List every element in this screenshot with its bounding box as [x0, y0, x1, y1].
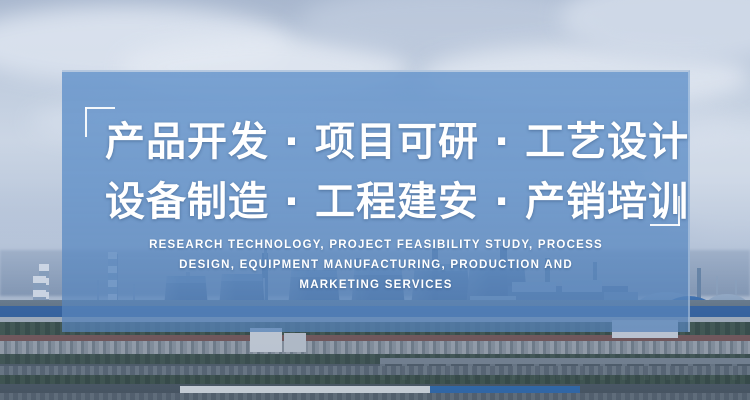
bracket-horizontal-stroke [85, 107, 115, 109]
subtitle: RESEARCH TECHNOLOGY, PROJECT FEASIBILITY… [120, 235, 632, 295]
subtitle-line-3: MARKETING SERVICES [120, 275, 632, 295]
elevated-roadway [380, 358, 750, 364]
rail-yard [0, 393, 750, 400]
subtitle-line-2: DESIGN, EQUIPMENT MANUFACTURING, PRODUCT… [120, 255, 632, 275]
subtitle-line-1: RESEARCH TECHNOLOGY, PROJECT FEASIBILITY… [120, 235, 632, 255]
silo-cluster [284, 333, 306, 352]
train-cars [430, 386, 580, 393]
vehicle-storage-lot [0, 341, 750, 354]
promo-banner: 产品开发 · 项目可研 · 工艺设计 设备制造 · 工程建安 · 产销培训 RE… [0, 0, 750, 400]
headline-line-2: 设备制造 · 工程建安 · 产销培训 [105, 172, 665, 232]
headline-line-1: 产品开发 · 项目可研 · 工艺设计 [105, 112, 665, 172]
train-cars [180, 386, 440, 393]
tree-line [0, 375, 750, 384]
headline: 产品开发 · 项目可研 · 工艺设计 设备制造 · 工程建安 · 产销培训 [105, 112, 665, 232]
rail-yard [0, 366, 750, 375]
overlay-panel: 产品开发 · 项目可研 · 工艺设计 设备制造 · 工程建安 · 产销培训 RE… [62, 70, 690, 332]
bracket-vertical-stroke [85, 107, 87, 137]
